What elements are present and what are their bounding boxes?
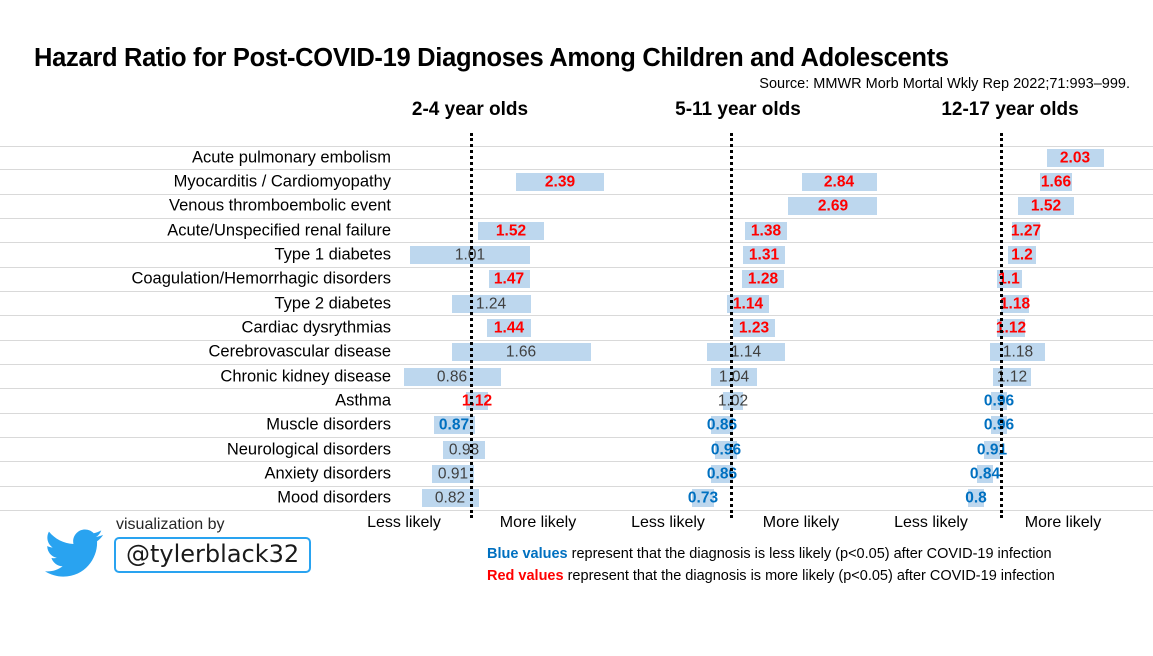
table-row: Acute/Unspecified renal failure1.521.381… xyxy=(0,219,1153,243)
axis-label-1: More likely xyxy=(500,514,576,532)
source-citation: Source: MMWR Morb Mortal Wkly Rep 2022;7… xyxy=(759,76,1130,92)
row-label: Neurological disorders xyxy=(227,440,391,459)
value-label-group2-row10: 0.96 xyxy=(984,393,1014,409)
table-row: Venous thromboembolic event2.691.52 xyxy=(0,195,1153,219)
table-row: Type 2 diabetes1.241.141.18 xyxy=(0,292,1153,316)
value-label-group1-row5: 1.28 xyxy=(748,272,778,288)
attribution-prefix: visualization by xyxy=(116,516,225,534)
row-label: Acute/Unspecified renal failure xyxy=(167,221,391,240)
table-row: Acute pulmonary embolism2.03 xyxy=(0,146,1153,170)
value-label-group2-row2: 1.52 xyxy=(1031,199,1061,215)
axis-label-5: More likely xyxy=(1025,514,1101,532)
reference-line-0 xyxy=(470,133,473,518)
chart-root: Hazard Ratio for Post-COVID-19 Diagnoses… xyxy=(0,0,1153,656)
row-label: Venous thromboembolic event xyxy=(169,197,391,216)
group-header-2: 12-17 year olds xyxy=(941,99,1078,121)
value-label-group0-row9: 0.86 xyxy=(437,369,467,385)
value-label-group0-row7: 1.44 xyxy=(494,320,524,336)
reference-line-1 xyxy=(730,133,733,518)
group-header-0: 2-4 year olds xyxy=(412,99,528,121)
legend-red-text: represent that the diagnosis is more lik… xyxy=(564,568,1055,584)
value-label-group0-row10: 1.12 xyxy=(462,393,492,409)
value-label-group2-row11: 0.96 xyxy=(984,418,1014,434)
row-label: Type 1 diabetes xyxy=(275,245,392,264)
value-label-group2-row14: 0.8 xyxy=(965,491,987,507)
value-label-group2-row8: 1.18 xyxy=(1003,345,1033,361)
value-label-group1-row9: 1.04 xyxy=(719,369,749,385)
reference-line-2 xyxy=(1000,133,1003,518)
twitter-bird-icon xyxy=(38,524,110,582)
value-label-group1-row4: 1.31 xyxy=(749,247,779,263)
row-label: Mood disorders xyxy=(277,489,391,508)
value-label-group2-row3: 1.27 xyxy=(1011,223,1041,239)
legend-blue-text: represent that the diagnosis is less lik… xyxy=(568,546,1052,562)
table-row: Neurological disorders0.980.960.91 xyxy=(0,438,1153,462)
value-label-group1-row10: 1.02 xyxy=(718,393,748,409)
value-label-group1-row7: 1.23 xyxy=(739,320,769,336)
plot-area: Acute pulmonary embolism2.03Myocarditis … xyxy=(0,146,1153,511)
value-label-group1-row6: 1.14 xyxy=(733,296,763,312)
value-label-group0-row1: 2.39 xyxy=(545,174,575,190)
value-label-group1-row2: 2.69 xyxy=(818,199,848,215)
value-label-group2-row4: 1.2 xyxy=(1011,247,1033,263)
value-label-group1-row3: 1.38 xyxy=(751,223,781,239)
row-label: Muscle disorders xyxy=(266,416,391,435)
value-label-group1-row1: 2.84 xyxy=(824,174,854,190)
attribution-handle: @tylerblack32 xyxy=(126,540,299,568)
legend-red-line: Red values represent that the diagnosis … xyxy=(487,568,1055,584)
axis-label-4: Less likely xyxy=(894,514,968,532)
table-row: Myocarditis / Cardiomyopathy2.392.841.66 xyxy=(0,170,1153,194)
legend-blue-line: Blue values represent that the diagnosis… xyxy=(487,546,1052,562)
value-label-group2-row13: 0.84 xyxy=(970,466,1000,482)
row-label: Chronic kidney disease xyxy=(220,367,391,386)
value-label-group1-row12: 0.96 xyxy=(711,442,741,458)
value-label-group2-row0: 2.03 xyxy=(1060,150,1090,166)
value-label-group0-row14: 0.82 xyxy=(435,491,465,507)
legend-red-key: Red values xyxy=(487,568,564,584)
value-label-group1-row8: 1.14 xyxy=(731,345,761,361)
table-row: Type 1 diabetes1.011.311.2 xyxy=(0,243,1153,267)
table-row: Muscle disorders0.870.860.96 xyxy=(0,414,1153,438)
row-label: Anxiety disorders xyxy=(264,464,391,483)
value-label-group0-row8: 1.66 xyxy=(506,345,536,361)
table-row: Cerebrovascular disease1.661.141.18 xyxy=(0,341,1153,365)
row-label: Cerebrovascular disease xyxy=(208,343,391,362)
value-label-group0-row13: 0.91 xyxy=(438,466,468,482)
axis-label-0: Less likely xyxy=(367,514,441,532)
table-row: Coagulation/Hemorrhagic disorders1.471.2… xyxy=(0,268,1153,292)
value-label-group2-row1: 1.66 xyxy=(1041,174,1071,190)
group-header-1: 5-11 year olds xyxy=(675,99,801,121)
table-row: Anxiety disorders0.910.860.84 xyxy=(0,462,1153,486)
value-label-group0-row6: 1.24 xyxy=(476,296,506,312)
row-label: Cardiac dysrythmias xyxy=(242,318,391,337)
value-label-group0-row5: 1.47 xyxy=(494,272,524,288)
row-label: Acute pulmonary embolism xyxy=(192,149,391,168)
value-label-group1-row14: 0.73 xyxy=(688,491,718,507)
row-label: Type 2 diabetes xyxy=(275,294,392,313)
attribution-watermark: visualization by @tylerblack32 xyxy=(38,516,303,582)
value-label-group2-row6: 1.18 xyxy=(1000,296,1030,312)
row-label: Asthma xyxy=(335,391,391,410)
axis-label-2: Less likely xyxy=(631,514,705,532)
row-label: Myocarditis / Cardiomyopathy xyxy=(174,172,391,191)
row-label: Coagulation/Hemorrhagic disorders xyxy=(131,270,391,289)
page-title: Hazard Ratio for Post-COVID-19 Diagnoses… xyxy=(34,44,949,73)
axis-label-3: More likely xyxy=(763,514,839,532)
value-label-group0-row11: 0.87 xyxy=(439,418,469,434)
table-row: Chronic kidney disease0.861.041.12 xyxy=(0,365,1153,389)
value-label-group0-row12: 0.98 xyxy=(449,442,479,458)
attribution-handle-box[interactable]: @tylerblack32 xyxy=(114,537,311,573)
table-row: Mood disorders0.820.730.8 xyxy=(0,487,1153,511)
value-label-group0-row3: 1.52 xyxy=(496,223,526,239)
table-row: Cardiac dysrythmias1.441.231.12 xyxy=(0,316,1153,340)
legend-blue-key: Blue values xyxy=(487,546,568,562)
table-row: Asthma1.121.020.96 xyxy=(0,389,1153,413)
